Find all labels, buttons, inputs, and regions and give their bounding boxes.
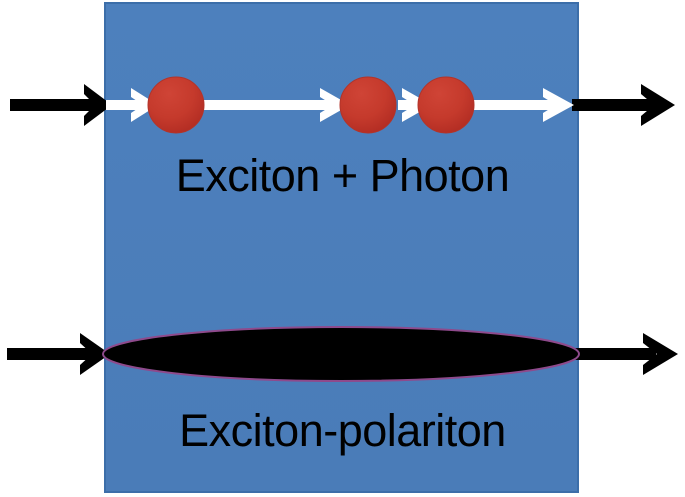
input-arrow-top	[10, 84, 112, 126]
exciton-particle-2	[340, 77, 396, 133]
output-arrow-bottom	[574, 333, 678, 375]
exciton-polariton-ellipse	[103, 327, 579, 381]
output-arrow-top	[572, 84, 675, 126]
exciton-particle-3	[418, 77, 474, 133]
figure-canvas: Exciton + Photon Exciton-polariton	[0, 0, 685, 497]
exciton-particle-1	[148, 77, 204, 133]
label-exciton-photon: Exciton + Photon	[0, 150, 685, 202]
input-arrow-bottom	[7, 333, 110, 375]
label-exciton-polariton: Exciton-polariton	[0, 405, 685, 457]
